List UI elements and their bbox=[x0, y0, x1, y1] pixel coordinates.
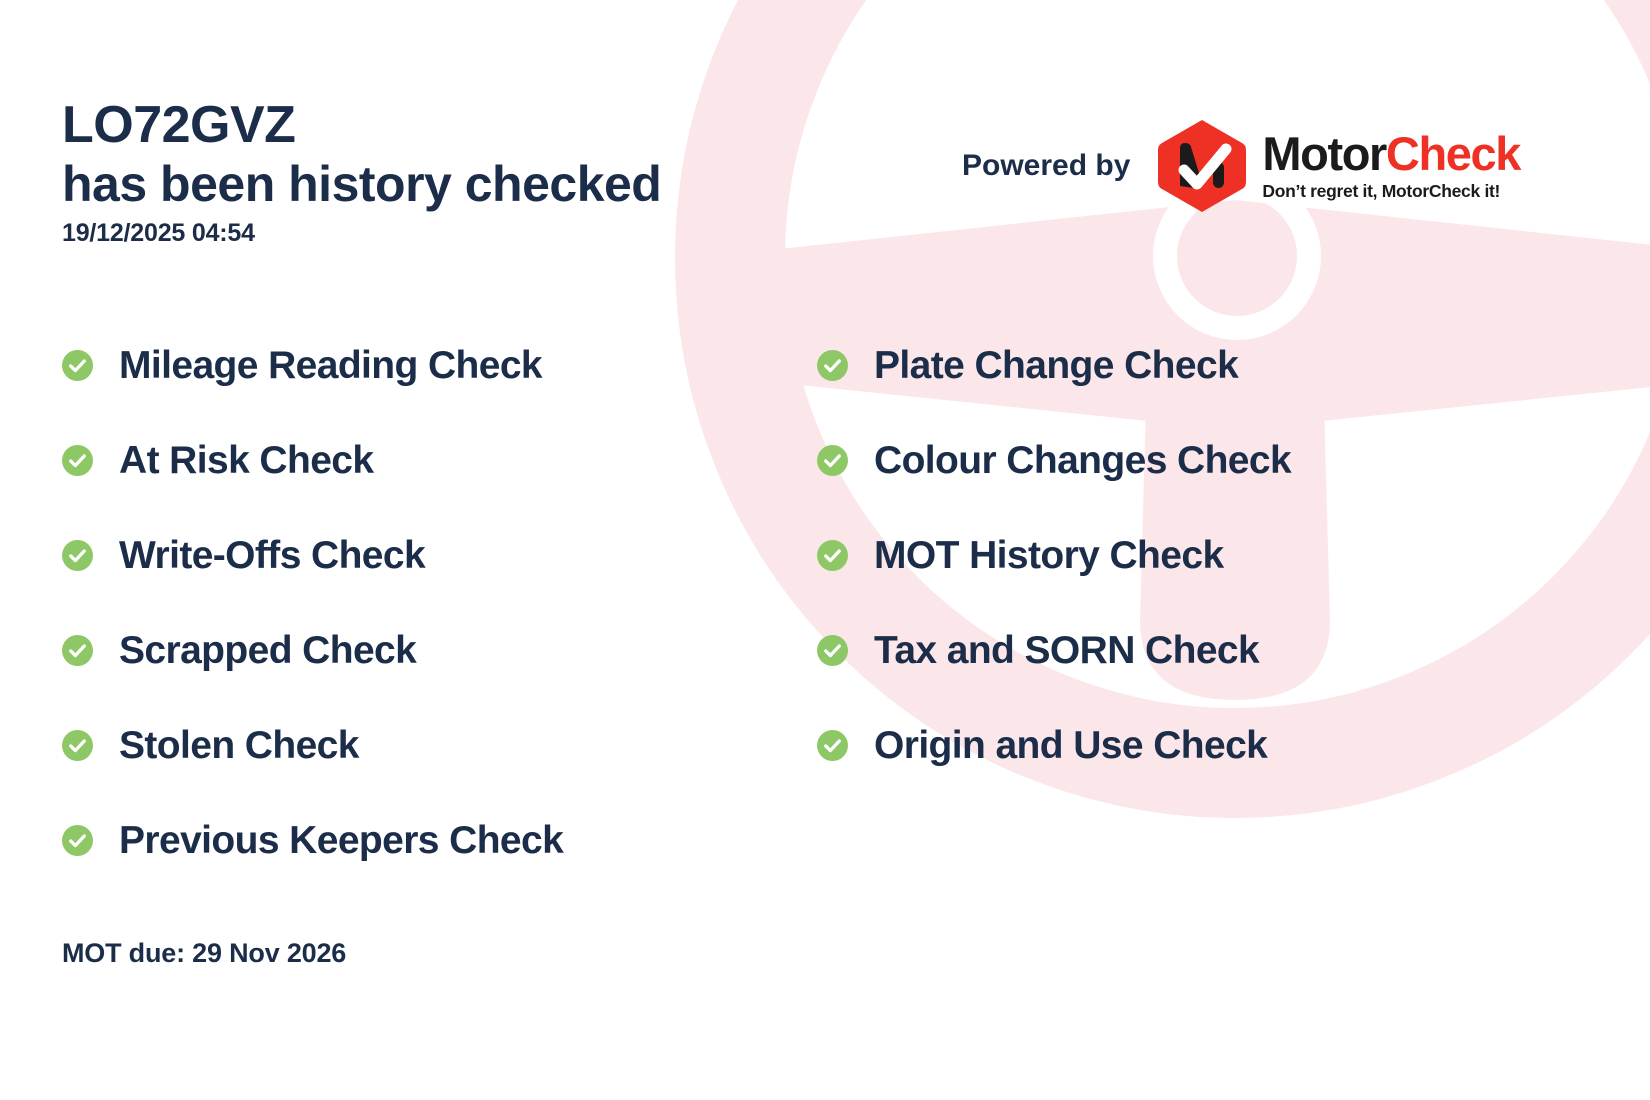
check-item: Tax and SORN Check bbox=[817, 603, 1562, 698]
check-item: At Risk Check bbox=[62, 413, 817, 508]
check-item-label: At Risk Check bbox=[119, 439, 373, 483]
wordmark-check: Check bbox=[1386, 127, 1520, 180]
mot-due-text: MOT due: 29 Nov 2026 bbox=[62, 938, 346, 969]
motorcheck-hexagon-icon bbox=[1156, 118, 1248, 214]
check-item: Scrapped Check bbox=[62, 603, 817, 698]
check-item-label: Previous Keepers Check bbox=[119, 819, 563, 863]
check-item: Mileage Reading Check bbox=[62, 318, 817, 413]
check-circle-icon bbox=[62, 350, 93, 381]
check-circle-icon bbox=[817, 730, 848, 761]
check-circle-icon bbox=[62, 635, 93, 666]
check-item-label: MOT History Check bbox=[874, 534, 1224, 578]
check-item: Colour Changes Check bbox=[817, 413, 1562, 508]
check-timestamp: 19/12/2025 04:54 bbox=[62, 219, 842, 248]
check-item: Previous Keepers Check bbox=[62, 793, 817, 888]
vehicle-history-check-card: LO72GVZ has been history checked 19/12/2… bbox=[0, 0, 1650, 1100]
check-circle-icon bbox=[817, 350, 848, 381]
checks-column-left: Mileage Reading CheckAt Risk CheckWrite-… bbox=[62, 318, 817, 888]
check-circle-icon bbox=[62, 540, 93, 571]
checks-column-right: Plate Change CheckColour Changes CheckMO… bbox=[817, 318, 1562, 888]
check-item-label: Mileage Reading Check bbox=[119, 344, 542, 388]
motorcheck-wordmark-block: MotorCheck Don’t regret it, MotorCheck i… bbox=[1262, 130, 1520, 202]
check-item-label: Origin and Use Check bbox=[874, 724, 1267, 768]
check-item-label: Stolen Check bbox=[119, 724, 359, 768]
vehicle-registration: LO72GVZ bbox=[62, 96, 842, 156]
wordmark-motor: Motor bbox=[1262, 127, 1386, 180]
check-item: Plate Change Check bbox=[817, 318, 1562, 413]
motorcheck-logo[interactable]: MotorCheck Don’t regret it, MotorCheck i… bbox=[1156, 118, 1520, 214]
check-item: MOT History Check bbox=[817, 508, 1562, 603]
header-block: LO72GVZ has been history checked 19/12/2… bbox=[62, 96, 842, 248]
check-circle-icon bbox=[62, 445, 93, 476]
check-circle-icon bbox=[817, 540, 848, 571]
brand-tagline: Don’t regret it, MotorCheck it! bbox=[1262, 181, 1520, 202]
check-circle-icon bbox=[62, 730, 93, 761]
check-item: Stolen Check bbox=[62, 698, 817, 793]
check-item: Write-Offs Check bbox=[62, 508, 817, 603]
powered-by-block: Powered by MotorCheck Don’t regret it, M… bbox=[962, 118, 1520, 214]
check-item-label: Plate Change Check bbox=[874, 344, 1238, 388]
check-item-label: Tax and SORN Check bbox=[874, 629, 1259, 673]
motorcheck-wordmark: MotorCheck bbox=[1262, 130, 1520, 177]
check-circle-icon bbox=[817, 445, 848, 476]
check-item-label: Scrapped Check bbox=[119, 629, 416, 673]
powered-by-label: Powered by bbox=[962, 149, 1130, 183]
check-circle-icon bbox=[817, 635, 848, 666]
check-item-label: Colour Changes Check bbox=[874, 439, 1291, 483]
check-circle-icon bbox=[62, 825, 93, 856]
page-title: has been history checked bbox=[62, 156, 842, 214]
checks-grid: Mileage Reading CheckAt Risk CheckWrite-… bbox=[62, 318, 1562, 888]
check-item: Origin and Use Check bbox=[817, 698, 1562, 793]
check-item-label: Write-Offs Check bbox=[119, 534, 425, 578]
